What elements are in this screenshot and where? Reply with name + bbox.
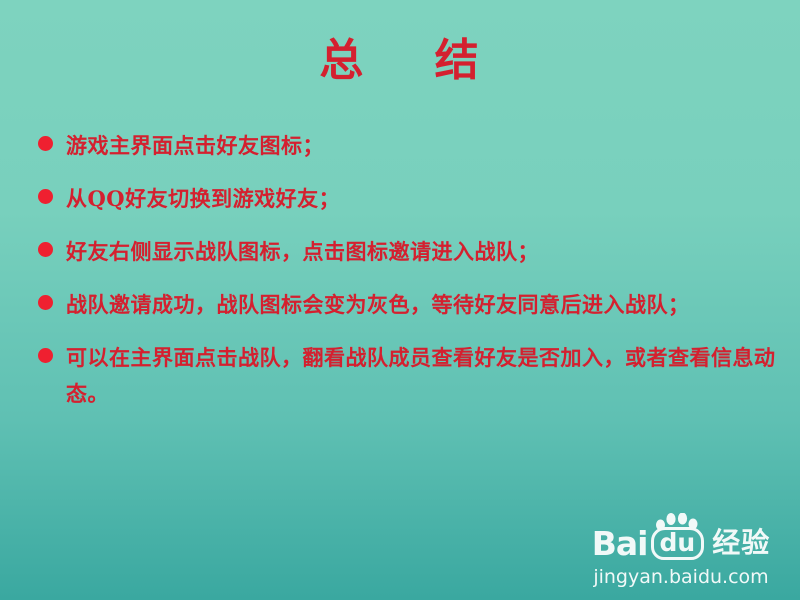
list-item-label: 好友右侧显示战队图标，点击图标邀请进入战队； — [66, 234, 778, 270]
bullet-dot-icon — [38, 242, 53, 257]
watermark-url: jingyan.baidu.com — [576, 566, 786, 588]
list-item-label: 游戏主界面点击好友图标； — [66, 128, 778, 164]
watermark-brand-latin: Bai — [592, 527, 648, 560]
watermark-brand-cn: 经验 — [712, 528, 770, 558]
presentation-slide: 总 结 游戏主界面点击好友图标； 从QQ好友切换到游戏好友； 好友右侧显示战队图… — [0, 0, 800, 600]
list-item: 好友右侧显示战队图标，点击图标邀请进入战队； — [38, 234, 778, 270]
baidu-jingyan-watermark: Bai du 经验 jingyan.baidu.com — [576, 521, 786, 588]
bullet-dot-icon — [38, 189, 53, 204]
watermark-du-badge: du — [651, 527, 705, 560]
list-item-label: 可以在主界面点击战队，翻看战队成员查看好友是否加入，或者查看信息动态。 — [66, 340, 778, 412]
list-item-label: 从QQ好友切换到游戏好友； — [66, 181, 778, 217]
bullet-dot-icon — [38, 295, 53, 310]
list-item: 游戏主界面点击好友图标； — [38, 128, 778, 164]
list-item: 可以在主界面点击战队，翻看战队成员查看好友是否加入，或者查看信息动态。 — [38, 340, 778, 412]
paw-print-icon — [655, 513, 699, 531]
bullet-dot-icon — [38, 136, 53, 151]
summary-bullet-list: 游戏主界面点击好友图标； 从QQ好友切换到游戏好友； 好友右侧显示战队图标，点击… — [38, 128, 778, 429]
watermark-brand-pill: du — [651, 527, 705, 560]
list-item: 战队邀请成功，战队图标会变为灰色，等待好友同意后进入战队； — [38, 287, 778, 323]
watermark-logo: Bai du 经验 — [576, 521, 786, 565]
bullet-dot-icon — [38, 348, 53, 363]
list-item: 从QQ好友切换到游戏好友； — [38, 181, 778, 217]
page-title: 总 结 — [0, 33, 800, 89]
list-item-label: 战队邀请成功，战队图标会变为灰色，等待好友同意后进入战队； — [66, 287, 778, 323]
